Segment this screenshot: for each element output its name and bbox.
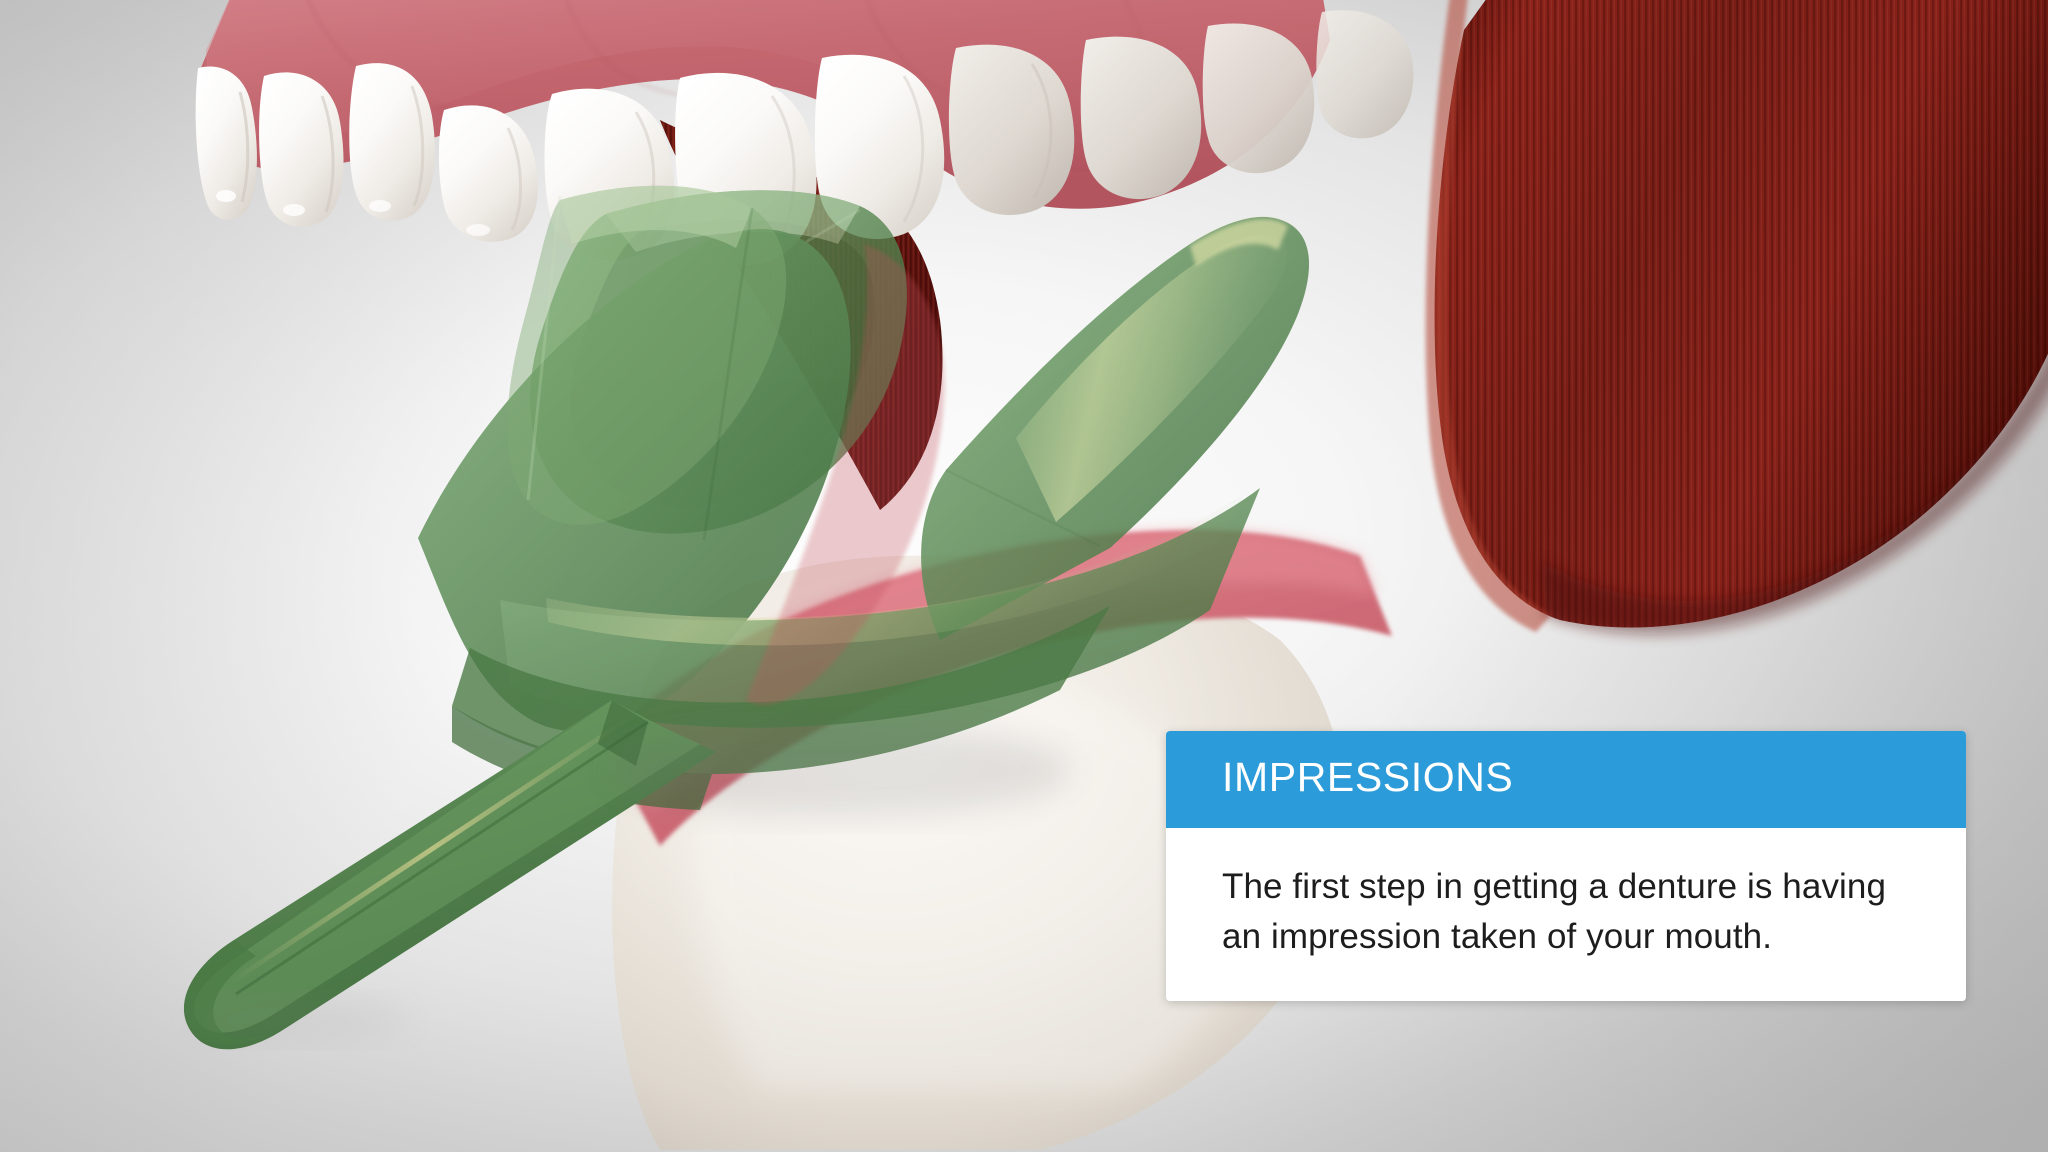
- caption-header: IMPRESSIONS: [1166, 731, 1966, 828]
- caption-text: The first step in getting a denture is h…: [1222, 862, 1910, 961]
- caption-title: IMPRESSIONS: [1222, 757, 1910, 798]
- caption-card: IMPRESSIONS The first step in getting a …: [1166, 731, 1966, 1001]
- illustration-stage: IMPRESSIONS The first step in getting a …: [0, 0, 2048, 1152]
- temporalis-muscle: [1426, 0, 2048, 634]
- tooth: [1316, 10, 1413, 138]
- tooth: [439, 105, 538, 241]
- caption-body: The first step in getting a denture is h…: [1166, 828, 1966, 1001]
